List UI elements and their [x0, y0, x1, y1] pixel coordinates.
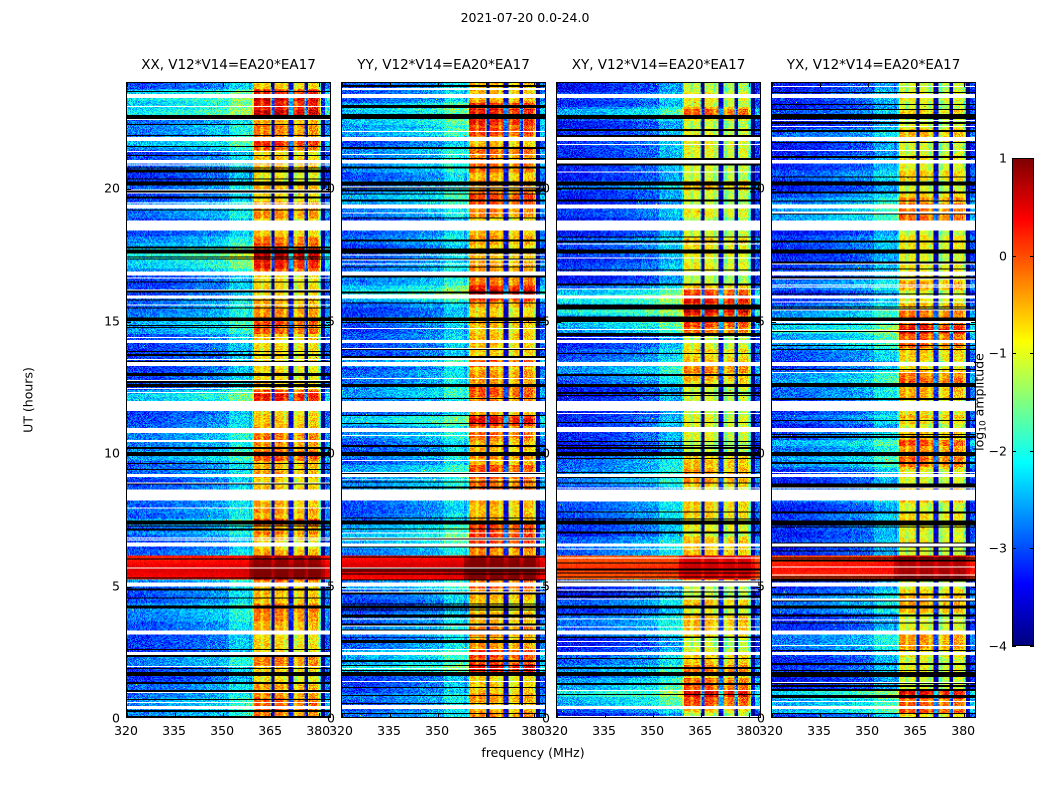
colorbar-label-suffix: amplitude	[971, 353, 986, 420]
x-tick-mark	[534, 713, 535, 717]
y-tick-label: 10	[534, 446, 550, 461]
colorbar-tick-label: −3	[989, 541, 1007, 556]
x-tick-mark	[772, 713, 773, 717]
x-tick-label: 350	[210, 723, 234, 738]
y-tick-mark	[557, 454, 561, 455]
y-tick-label: 20	[319, 181, 335, 196]
colorbar-tick-mark	[1012, 548, 1016, 549]
x-tick-mark	[342, 713, 343, 717]
panel-xx[interactable]: XX, V12*V14=EA20*EA17 051015203203353503…	[126, 82, 331, 718]
x-tick-label: 335	[162, 723, 186, 738]
x-tick-mark	[271, 713, 272, 717]
colorbar-tick-mark	[1012, 158, 1016, 159]
x-tick-mark	[438, 713, 439, 717]
heatmap-image-xx	[127, 83, 330, 717]
y-tick-label: 20	[534, 181, 550, 196]
panel-title-yy: YY, V12*V14=EA20*EA17	[357, 57, 530, 73]
x-tick-label: 350	[855, 723, 879, 738]
x-tick-label: 320	[544, 723, 568, 738]
y-tick-label: 10	[104, 446, 120, 461]
y-tick-mark	[342, 454, 346, 455]
heatmap-axes-yx[interactable]	[771, 82, 976, 718]
y-tick-mark	[971, 587, 975, 588]
heatmap-axes-yy[interactable]	[341, 82, 546, 718]
x-tick-label: 320	[329, 723, 353, 738]
x-tick-label: 350	[425, 723, 449, 738]
x-tick-mark	[701, 83, 702, 87]
x-tick-mark	[223, 713, 224, 717]
x-tick-label: 350	[640, 723, 664, 738]
panel-yx[interactable]: YX, V12*V14=EA20*EA17 051015203203353503…	[771, 82, 976, 718]
x-tick-mark	[175, 713, 176, 717]
colorbar-tick-label: −2	[989, 443, 1007, 458]
x-tick-mark	[486, 83, 487, 87]
x-tick-mark	[820, 713, 821, 717]
y-tick-mark	[342, 189, 346, 190]
colorbar-label: log10 amplitude	[971, 353, 988, 451]
y-tick-mark	[772, 454, 776, 455]
colorbar-tick-mark	[1030, 451, 1034, 452]
figure-suptitle: 2021-07-20 0.0-24.0	[0, 10, 1050, 25]
colorbar-tick-label: 1	[999, 151, 1007, 166]
y-tick-mark	[127, 587, 131, 588]
colorbar-tick-mark	[1012, 646, 1016, 647]
x-tick-label: 320	[114, 723, 138, 738]
heatmap-axes-xx[interactable]	[126, 82, 331, 718]
y-tick-label: 10	[749, 446, 765, 461]
x-tick-mark	[868, 713, 869, 717]
x-axis-label: frequency (MHz)	[481, 745, 584, 760]
x-tick-mark	[390, 713, 391, 717]
y-tick-mark	[342, 322, 346, 323]
x-tick-mark	[605, 713, 606, 717]
x-tick-mark	[701, 713, 702, 717]
figure-canvas: 2021-07-20 0.0-24.0 XX, V12*V14=EA20*EA1…	[0, 0, 1050, 800]
y-tick-label: 15	[749, 313, 765, 328]
y-tick-label: 15	[534, 313, 550, 328]
y-tick-label: 5	[327, 578, 335, 593]
y-tick-mark	[557, 587, 561, 588]
y-tick-label: 5	[112, 578, 120, 593]
x-tick-mark	[964, 713, 965, 717]
heatmap-axes-xy[interactable]	[556, 82, 761, 718]
panel-yy[interactable]: YY, V12*V14=EA20*EA17 051015203203353503…	[341, 82, 546, 718]
x-tick-mark	[772, 83, 773, 87]
y-tick-label: 15	[319, 313, 335, 328]
x-tick-mark	[557, 713, 558, 717]
x-tick-label: 320	[759, 723, 783, 738]
colorbar-tick-mark	[1030, 256, 1034, 257]
x-tick-mark	[175, 83, 176, 87]
y-tick-mark	[772, 189, 776, 190]
colorbar-tick-mark	[1030, 158, 1034, 159]
x-tick-mark	[653, 83, 654, 87]
x-tick-mark	[438, 83, 439, 87]
colorbar-tick-mark	[1012, 451, 1016, 452]
y-tick-mark	[557, 189, 561, 190]
x-tick-mark	[534, 83, 535, 87]
panel-title-xy: XY, V12*V14=EA20*EA17	[572, 57, 746, 73]
x-tick-mark	[127, 83, 128, 87]
heatmap-image-xy	[557, 83, 760, 717]
x-tick-mark	[653, 713, 654, 717]
y-tick-mark	[772, 322, 776, 323]
colorbar-tick-label: 0	[999, 248, 1007, 263]
x-tick-mark	[342, 83, 343, 87]
x-tick-mark	[486, 713, 487, 717]
y-tick-mark	[127, 454, 131, 455]
x-tick-mark	[916, 83, 917, 87]
x-tick-mark	[271, 83, 272, 87]
colorbar-tick-mark	[1012, 256, 1016, 257]
x-tick-mark	[605, 83, 606, 87]
x-tick-mark	[868, 83, 869, 87]
x-tick-mark	[319, 83, 320, 87]
x-tick-label: 335	[377, 723, 401, 738]
y-tick-mark	[557, 322, 561, 323]
x-tick-mark	[749, 713, 750, 717]
colorbar[interactable]: 10−1−2−3−4	[1012, 158, 1034, 646]
x-tick-label: 365	[688, 723, 712, 738]
x-tick-label: 380	[951, 723, 975, 738]
heatmap-image-yy	[342, 83, 545, 717]
y-tick-label: 20	[104, 181, 120, 196]
y-tick-mark	[342, 587, 346, 588]
y-tick-label: 5	[757, 578, 765, 593]
x-tick-mark	[820, 83, 821, 87]
colorbar-label-subscript: 10	[979, 420, 989, 431]
y-tick-label: 20	[749, 181, 765, 196]
x-tick-mark	[557, 83, 558, 87]
panel-title-yx: YX, V12*V14=EA20*EA17	[787, 57, 961, 73]
colorbar-tick-mark	[1030, 353, 1034, 354]
y-tick-label: 5	[542, 578, 550, 593]
x-tick-mark	[127, 713, 128, 717]
y-axis-label: UT (hours)	[21, 367, 36, 433]
x-tick-label: 335	[807, 723, 831, 738]
y-tick-mark	[127, 189, 131, 190]
y-tick-mark	[971, 322, 975, 323]
x-tick-mark	[749, 83, 750, 87]
colorbar-label-prefix: log	[971, 432, 986, 451]
x-tick-mark	[916, 713, 917, 717]
x-tick-mark	[223, 83, 224, 87]
x-tick-mark	[964, 83, 965, 87]
y-tick-mark	[772, 587, 776, 588]
y-tick-label: 15	[104, 313, 120, 328]
panel-title-xx: XX, V12*V14=EA20*EA17	[141, 57, 316, 73]
panel-xy[interactable]: XY, V12*V14=EA20*EA17 051015203203353503…	[556, 82, 761, 718]
x-tick-label: 335	[592, 723, 616, 738]
x-tick-mark	[319, 713, 320, 717]
x-tick-label: 365	[258, 723, 282, 738]
x-tick-mark	[390, 83, 391, 87]
colorbar-tick-mark	[1030, 548, 1034, 549]
colorbar-tick-label: −1	[989, 346, 1007, 361]
y-tick-mark	[971, 454, 975, 455]
colorbar-tick-mark	[1012, 353, 1016, 354]
y-tick-label: 10	[319, 446, 335, 461]
y-tick-mark	[971, 189, 975, 190]
colorbar-tick-mark	[1030, 646, 1034, 647]
colorbar-tick-label: −4	[989, 639, 1007, 654]
heatmap-image-yx	[772, 83, 975, 717]
colorbar-gradient	[1012, 158, 1034, 646]
y-tick-mark	[127, 322, 131, 323]
x-tick-label: 365	[903, 723, 927, 738]
x-tick-label: 365	[473, 723, 497, 738]
